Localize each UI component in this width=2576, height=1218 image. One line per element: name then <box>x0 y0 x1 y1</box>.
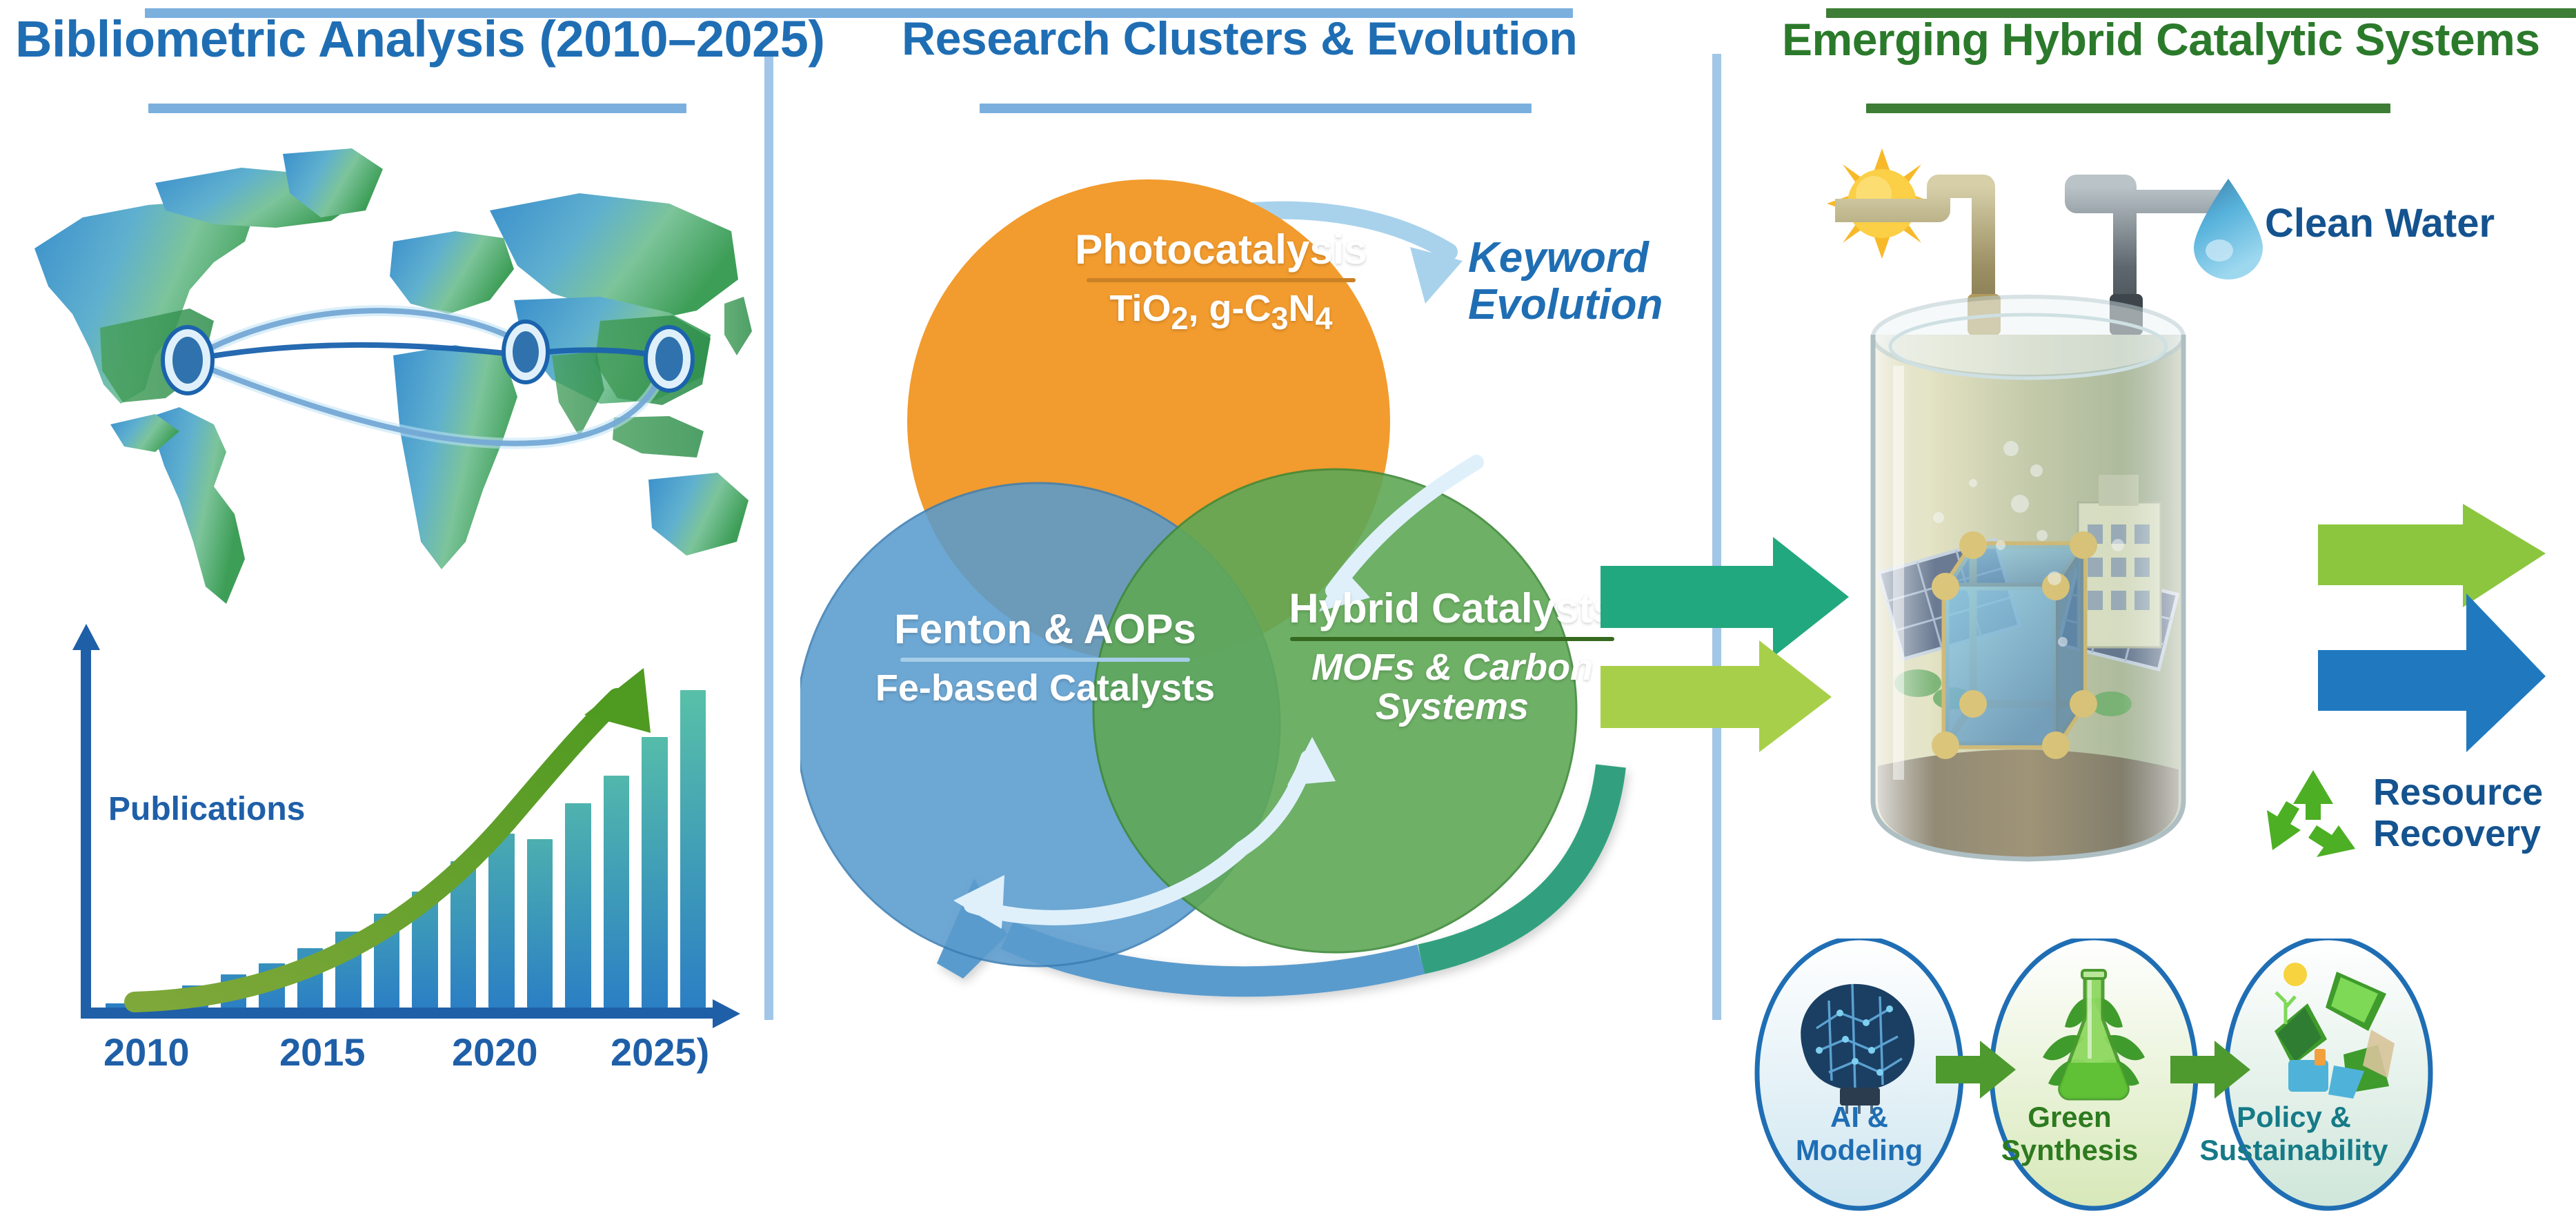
chart-x-tick: 2020 <box>452 1030 538 1074</box>
badge-label-policy-sustainability: Policy & Sustainability <box>2187 1101 2401 1168</box>
venn-rule-hybrid <box>1290 637 1614 641</box>
venn-label-hybrid: Hybrid Catalysts MOFs & Carbon Systems <box>1249 587 1656 726</box>
chart-bar <box>412 892 438 1008</box>
badge-green-line1: Green <box>1987 1101 2152 1134</box>
venn-title-photocatalysis: Photocatalysis <box>1035 228 1407 271</box>
chart-x-tick: 2010 <box>103 1030 190 1074</box>
venn-rule-fenton <box>900 658 1190 662</box>
chart-x-tick: 2015 <box>279 1030 366 1074</box>
formula-tio-sub: 2 <box>1171 301 1188 336</box>
heading-rule-bottom-left <box>148 104 686 113</box>
badge-ai-line1: AI & <box>1776 1101 1942 1134</box>
hybrid-photocatalytic-reactor <box>1835 159 2221 911</box>
output-arrows-group <box>2318 504 2576 752</box>
venn-label-fenton: Fenton & AOPs Fe-based Catalysts <box>838 607 1252 708</box>
badge-label-ai-modeling: AI & Modeling <box>1776 1101 1942 1168</box>
badge-ai-line2: Modeling <box>1776 1134 1942 1167</box>
chart-bar <box>488 834 515 1008</box>
publications-bar-chart: Publications 2010201520202025) <box>66 621 728 1063</box>
badge-policy-line2: Sustainability <box>2187 1134 2401 1167</box>
chart-bar <box>259 963 285 1008</box>
panel-title-bibliometric: Bibliometric Analysis (2010–2025) <box>15 14 825 65</box>
resource-recovery-line1: Resource <box>2373 772 2543 813</box>
keyword-evolution-line2: Evolution <box>1468 282 1758 328</box>
chart-bars <box>106 662 706 1008</box>
formula-n: N <box>1289 288 1316 329</box>
heading-rule-bottom-right <box>1866 104 2390 113</box>
keyword-evolution-line1: Keyword <box>1468 235 1758 282</box>
chart-bar <box>565 803 591 1008</box>
formula-tio: TiO <box>1109 288 1171 329</box>
chart-bar <box>144 996 170 1008</box>
chart-x-axis <box>81 1008 722 1019</box>
venn-subtitle-fenton: Fe-based Catalysts <box>838 669 1252 708</box>
chart-y-axis <box>81 645 91 1014</box>
chart-bar <box>297 948 324 1008</box>
chart-bar <box>182 985 208 1008</box>
teal-input-arrow <box>1601 537 1849 657</box>
venn-subtitle-hybrid: MOFs & Carbon Systems <box>1249 648 1656 726</box>
chart-bar <box>450 861 477 1008</box>
recycle-icon <box>2261 766 2365 870</box>
keyword-evolution-label: Keyword Evolution <box>1468 235 1758 328</box>
formula-n-sub: 4 <box>1316 301 1333 336</box>
blue-output-arrow <box>2318 593 2546 752</box>
panel-title-research-clusters: Research Clusters & Evolution <box>902 15 1577 62</box>
resource-recovery-line2: Recovery <box>2373 813 2543 854</box>
chart-bar <box>106 1003 132 1008</box>
resource-recovery-label: Resource Recovery <box>2373 772 2543 855</box>
reactor-glass <box>1873 335 2183 859</box>
venn-subtitle-photocatalysis: TiO2, g-C3N4 <box>1035 289 1407 335</box>
venn-rule-photocatalysis <box>1087 278 1356 282</box>
lightgreen-input-arrow <box>1601 640 1832 752</box>
chart-x-tick: 2025) <box>611 1030 709 1074</box>
world-collaboration-map <box>7 128 759 604</box>
formula-gcn: , g-C <box>1189 288 1271 329</box>
chart-bar <box>335 932 361 1008</box>
clean-water-label: Clean Water <box>2265 200 2495 246</box>
chart-bar <box>680 690 706 1008</box>
venn-title-hybrid: Hybrid Catalysts <box>1249 587 1656 630</box>
panel-title-hybrid-systems: Emerging Hybrid Catalytic Systems <box>1782 17 2540 62</box>
badge-green-line2: Synthesis <box>1987 1134 2152 1167</box>
water-droplet-icon <box>2190 176 2266 279</box>
chart-bar <box>604 776 630 1008</box>
chart-bar <box>642 737 668 1008</box>
x-axis-arrowhead <box>713 999 740 1028</box>
chart-bar <box>527 839 553 1008</box>
formula-gcn-sub-c: 3 <box>1271 301 1288 336</box>
badge-label-green-synthesis: Green Synthesis <box>1987 1101 2152 1168</box>
enabler-badges-group <box>1745 939 2442 1215</box>
chart-bar <box>221 974 247 1008</box>
venn-label-photocatalysis: Photocatalysis TiO2, g-C3N4 <box>1035 228 1407 335</box>
green-output-arrow <box>2318 504 2546 607</box>
badge-policy-line1: Policy & <box>2187 1101 2401 1134</box>
y-axis-arrowhead <box>72 624 100 650</box>
chart-bar <box>374 914 400 1008</box>
venn-title-fenton: Fenton & AOPs <box>838 607 1252 651</box>
chart-x-tick-labels: 2010201520202025) <box>66 1030 728 1085</box>
